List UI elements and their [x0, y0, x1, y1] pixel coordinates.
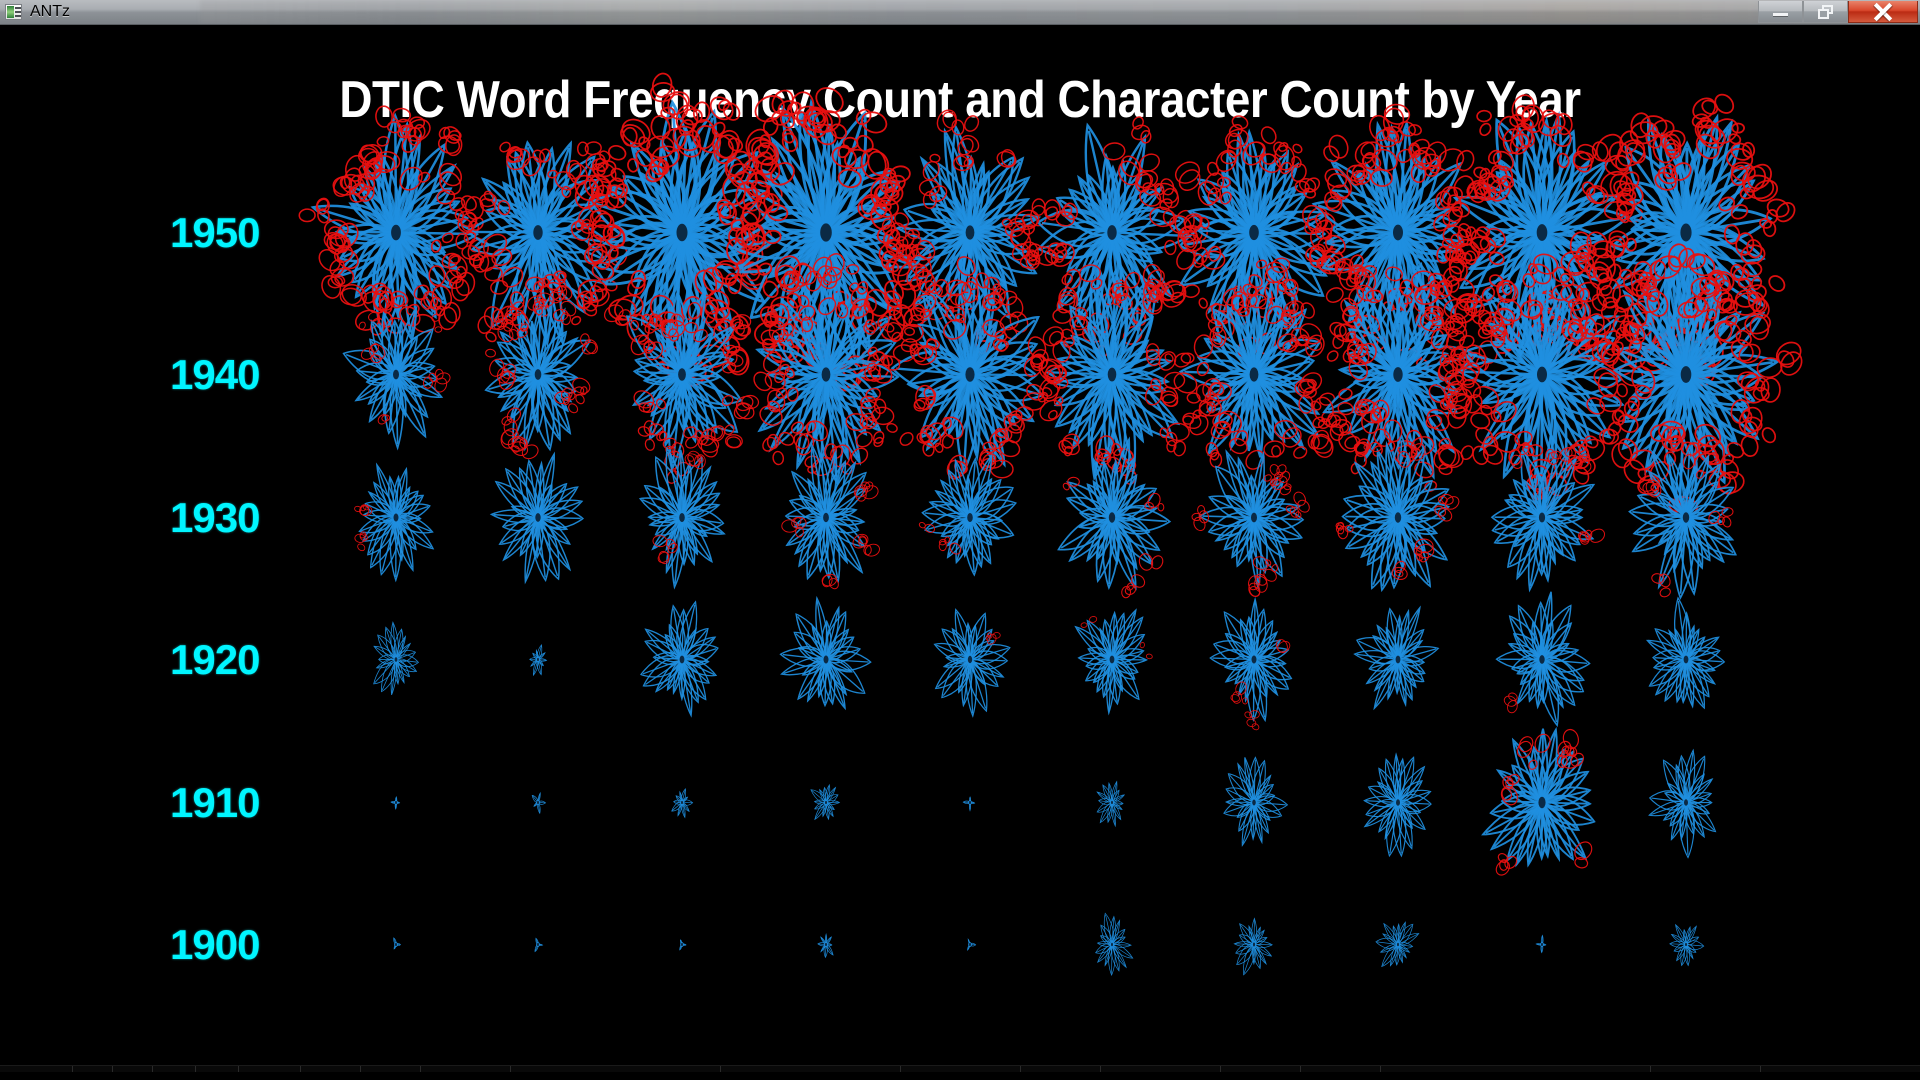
visualization-title: DTIC Word Frequency Count and Character …	[115, 70, 1805, 130]
restore-button[interactable]	[1803, 1, 1848, 23]
glyph-1920-col2	[516, 638, 559, 686]
glyph-1910-col1	[383, 790, 409, 821]
taskbar-tick	[1100, 1066, 1101, 1072]
glyph-1910-col3	[660, 781, 703, 829]
glyph-1920-col10	[1609, 582, 1764, 742]
glyph-1900-col1	[384, 933, 408, 962]
glyph-1940-col6	[979, 241, 1246, 513]
glyph-1910-col4	[795, 772, 857, 839]
glyph-1920-col7	[1173, 579, 1334, 745]
glyph-1910-col7	[1192, 741, 1316, 870]
window-title: ANTz	[30, 3, 70, 21]
glyph-1900-col7	[1211, 901, 1298, 993]
taskbar-tick	[300, 1066, 301, 1072]
glyph-1930-col8	[1296, 415, 1501, 625]
taskbar-tick	[1650, 1066, 1651, 1072]
glyph-1950-col5	[834, 96, 1107, 374]
taskbar-tick	[152, 1066, 153, 1072]
glyph-1940-col3	[561, 254, 803, 501]
glyph-1900-col9	[1528, 931, 1556, 964]
antz-application-window: ANTz DTIC Word Frequency Count and Chara…	[0, 0, 1920, 1080]
glyph-1940-col9	[1390, 223, 1694, 532]
glyph-1900-col4	[807, 926, 844, 968]
year-label-1900: 1900	[170, 921, 259, 969]
glyph-1910-col6	[1078, 768, 1146, 841]
glyph-1940-col2	[433, 269, 644, 485]
glyph-1900-col3	[669, 932, 695, 963]
glyph-1930-col1	[315, 437, 476, 603]
glyph-1930-col10	[1584, 415, 1789, 625]
glyph-1930-col7	[1158, 421, 1350, 618]
glyph-1920-col3	[605, 582, 760, 742]
taskbar-tick	[1220, 1066, 1221, 1072]
glyph-1930-col9	[1443, 418, 1641, 621]
glyph-1940-col5	[831, 235, 1110, 519]
glyph-1930-col2	[451, 431, 625, 610]
taskbar-tick	[900, 1066, 901, 1072]
year-label-1940: 1940	[170, 351, 259, 399]
glyph-1910-col9	[1430, 691, 1653, 919]
year-label-1950: 1950	[170, 209, 259, 257]
taskbar-tick	[1380, 1066, 1381, 1072]
glyph-1940-col7	[1118, 238, 1391, 516]
year-label-1930: 1930	[170, 494, 259, 542]
glyph-1910-col2	[523, 788, 553, 823]
glyph-1930-col4	[733, 425, 919, 616]
minimize-button[interactable]	[1758, 1, 1803, 23]
close-button[interactable]	[1848, 1, 1918, 23]
taskbar-tick	[112, 1066, 113, 1072]
taskbar-tick	[720, 1066, 721, 1072]
taskbar-tick	[238, 1066, 239, 1072]
glyph-1900-col2	[525, 932, 551, 963]
glyph-1910-col5	[956, 789, 984, 822]
taskbar-tick	[420, 1066, 421, 1072]
taskbar-tick	[510, 1066, 511, 1072]
glyph-1930-col3	[592, 428, 772, 613]
glyph-1940-col4	[690, 238, 963, 516]
minimize-icon	[1773, 13, 1788, 16]
taskbar-tick	[195, 1066, 196, 1072]
taskbar-tick	[1760, 1066, 1761, 1072]
glyph-1950-col7	[1108, 87, 1399, 383]
glyph-1900-col5	[957, 932, 983, 963]
glyph-1910-col8	[1330, 734, 1466, 875]
glyph-1910-col10	[1618, 734, 1754, 875]
glyph-1950-col2	[395, 90, 680, 380]
taskbar-tick	[360, 1066, 361, 1072]
close-icon	[1873, 2, 1893, 22]
glyph-1940-col8	[1255, 232, 1540, 522]
glyph-1920-col8	[1321, 582, 1476, 742]
glyph-1930-col5	[880, 428, 1060, 613]
glyph-1940-col1	[300, 278, 492, 475]
year-label-1910: 1910	[170, 779, 259, 827]
glyph-1920-col1	[346, 610, 445, 714]
window-titlebar[interactable]: ANTz	[0, 0, 1920, 25]
glyph-1900-col8	[1358, 904, 1439, 990]
year-label-1920: 1920	[170, 636, 259, 684]
taskbar-tick	[72, 1066, 73, 1072]
window-controls	[1758, 1, 1918, 23]
glyph-1920-col9	[1455, 573, 1629, 752]
glyph-1940-col10	[1525, 213, 1847, 540]
antz-app-icon	[5, 4, 22, 20]
taskbar-sliver	[0, 1065, 1920, 1072]
titlebar-translucency	[200, 0, 1920, 24]
glyph-1900-col6	[1072, 904, 1153, 990]
antz-render-canvas[interactable]: DTIC Word Frequency Count and Character …	[0, 25, 1920, 1072]
taskbar-tick	[1020, 1066, 1021, 1072]
glyph-1950-col6	[969, 90, 1254, 380]
restore-icon	[1818, 5, 1834, 19]
glyph-1920-col5	[896, 585, 1045, 739]
glyph-1920-col6	[1035, 582, 1190, 742]
glyph-1920-col4	[745, 579, 906, 745]
glyph-1930-col6	[1010, 415, 1215, 625]
taskbar-tick	[1300, 1066, 1301, 1072]
glyph-1900-col10	[1652, 910, 1720, 983]
